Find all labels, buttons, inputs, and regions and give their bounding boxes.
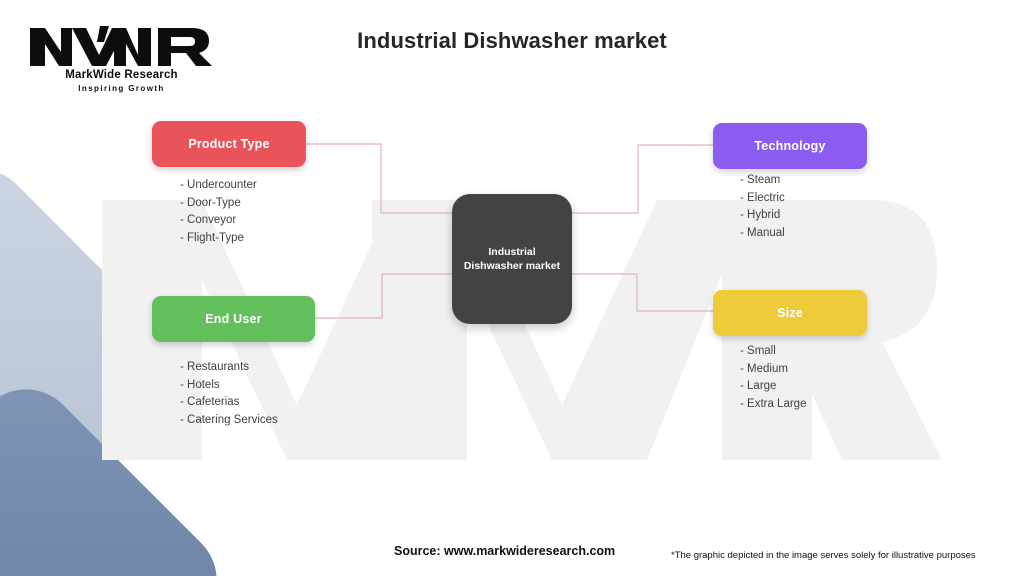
branch-label-technology: Technology [754,139,825,153]
list-item: - Undercounter [180,177,257,195]
branch-label-end-user: End User [205,312,261,326]
connector-technology [572,145,713,213]
connector-product-type [306,144,452,213]
list-item: - Cafeterias [180,394,278,412]
list-item: - Steam [740,172,785,190]
list-item: - Hotels [180,377,278,395]
center-node-line2: Dishwasher market [464,259,560,273]
list-item: - Catering Services [180,412,278,430]
list-item: - Restaurants [180,359,278,377]
list-item: - Hybrid [740,207,785,225]
branch-items-product-type: - Undercounter - Door-Type - Conveyor - … [180,177,257,247]
page-title: Industrial Dishwasher market [0,28,1024,54]
branch-label-size: Size [777,306,803,320]
branch-items-technology: - Steam - Electric - Hybrid - Manual [740,172,785,242]
list-item: - Extra Large [740,396,806,414]
connector-size [572,274,713,311]
branch-node-technology[interactable]: Technology [713,123,867,169]
list-item: - Flight-Type [180,230,257,248]
list-item: - Manual [740,225,785,243]
center-node-line1: Industrial [488,245,535,259]
branch-items-end-user: - Restaurants - Hotels - Cafeterias - Ca… [180,359,278,429]
footer-disclaimer: *The graphic depicted in the image serve… [671,550,976,561]
infographic-canvas: MarkWide Research Inspiring Growth Indus… [0,0,1024,576]
decorative-diamond-light [0,150,194,574]
list-item: - Door-Type [180,195,257,213]
footer-source: Source: www.markwideresearch.com [394,544,615,558]
list-item: - Large [740,378,806,396]
logo-tagline: Inspiring Growth [14,84,229,93]
branch-label-product-type: Product Type [188,137,269,151]
list-item: - Conveyor [180,212,257,230]
list-item: - Electric [740,190,785,208]
center-node: Industrial Dishwasher market [452,194,572,324]
connector-end-user [315,274,452,318]
list-item: - Medium [740,361,806,379]
branch-node-size[interactable]: Size [713,290,867,336]
branch-node-product-type[interactable]: Product Type [152,121,306,167]
list-item: - Small [740,343,806,361]
logo-brand-name: MarkWide Research [14,69,229,81]
branch-items-size: - Small - Medium - Large - Extra Large [740,343,806,413]
branch-node-end-user[interactable]: End User [152,296,315,342]
